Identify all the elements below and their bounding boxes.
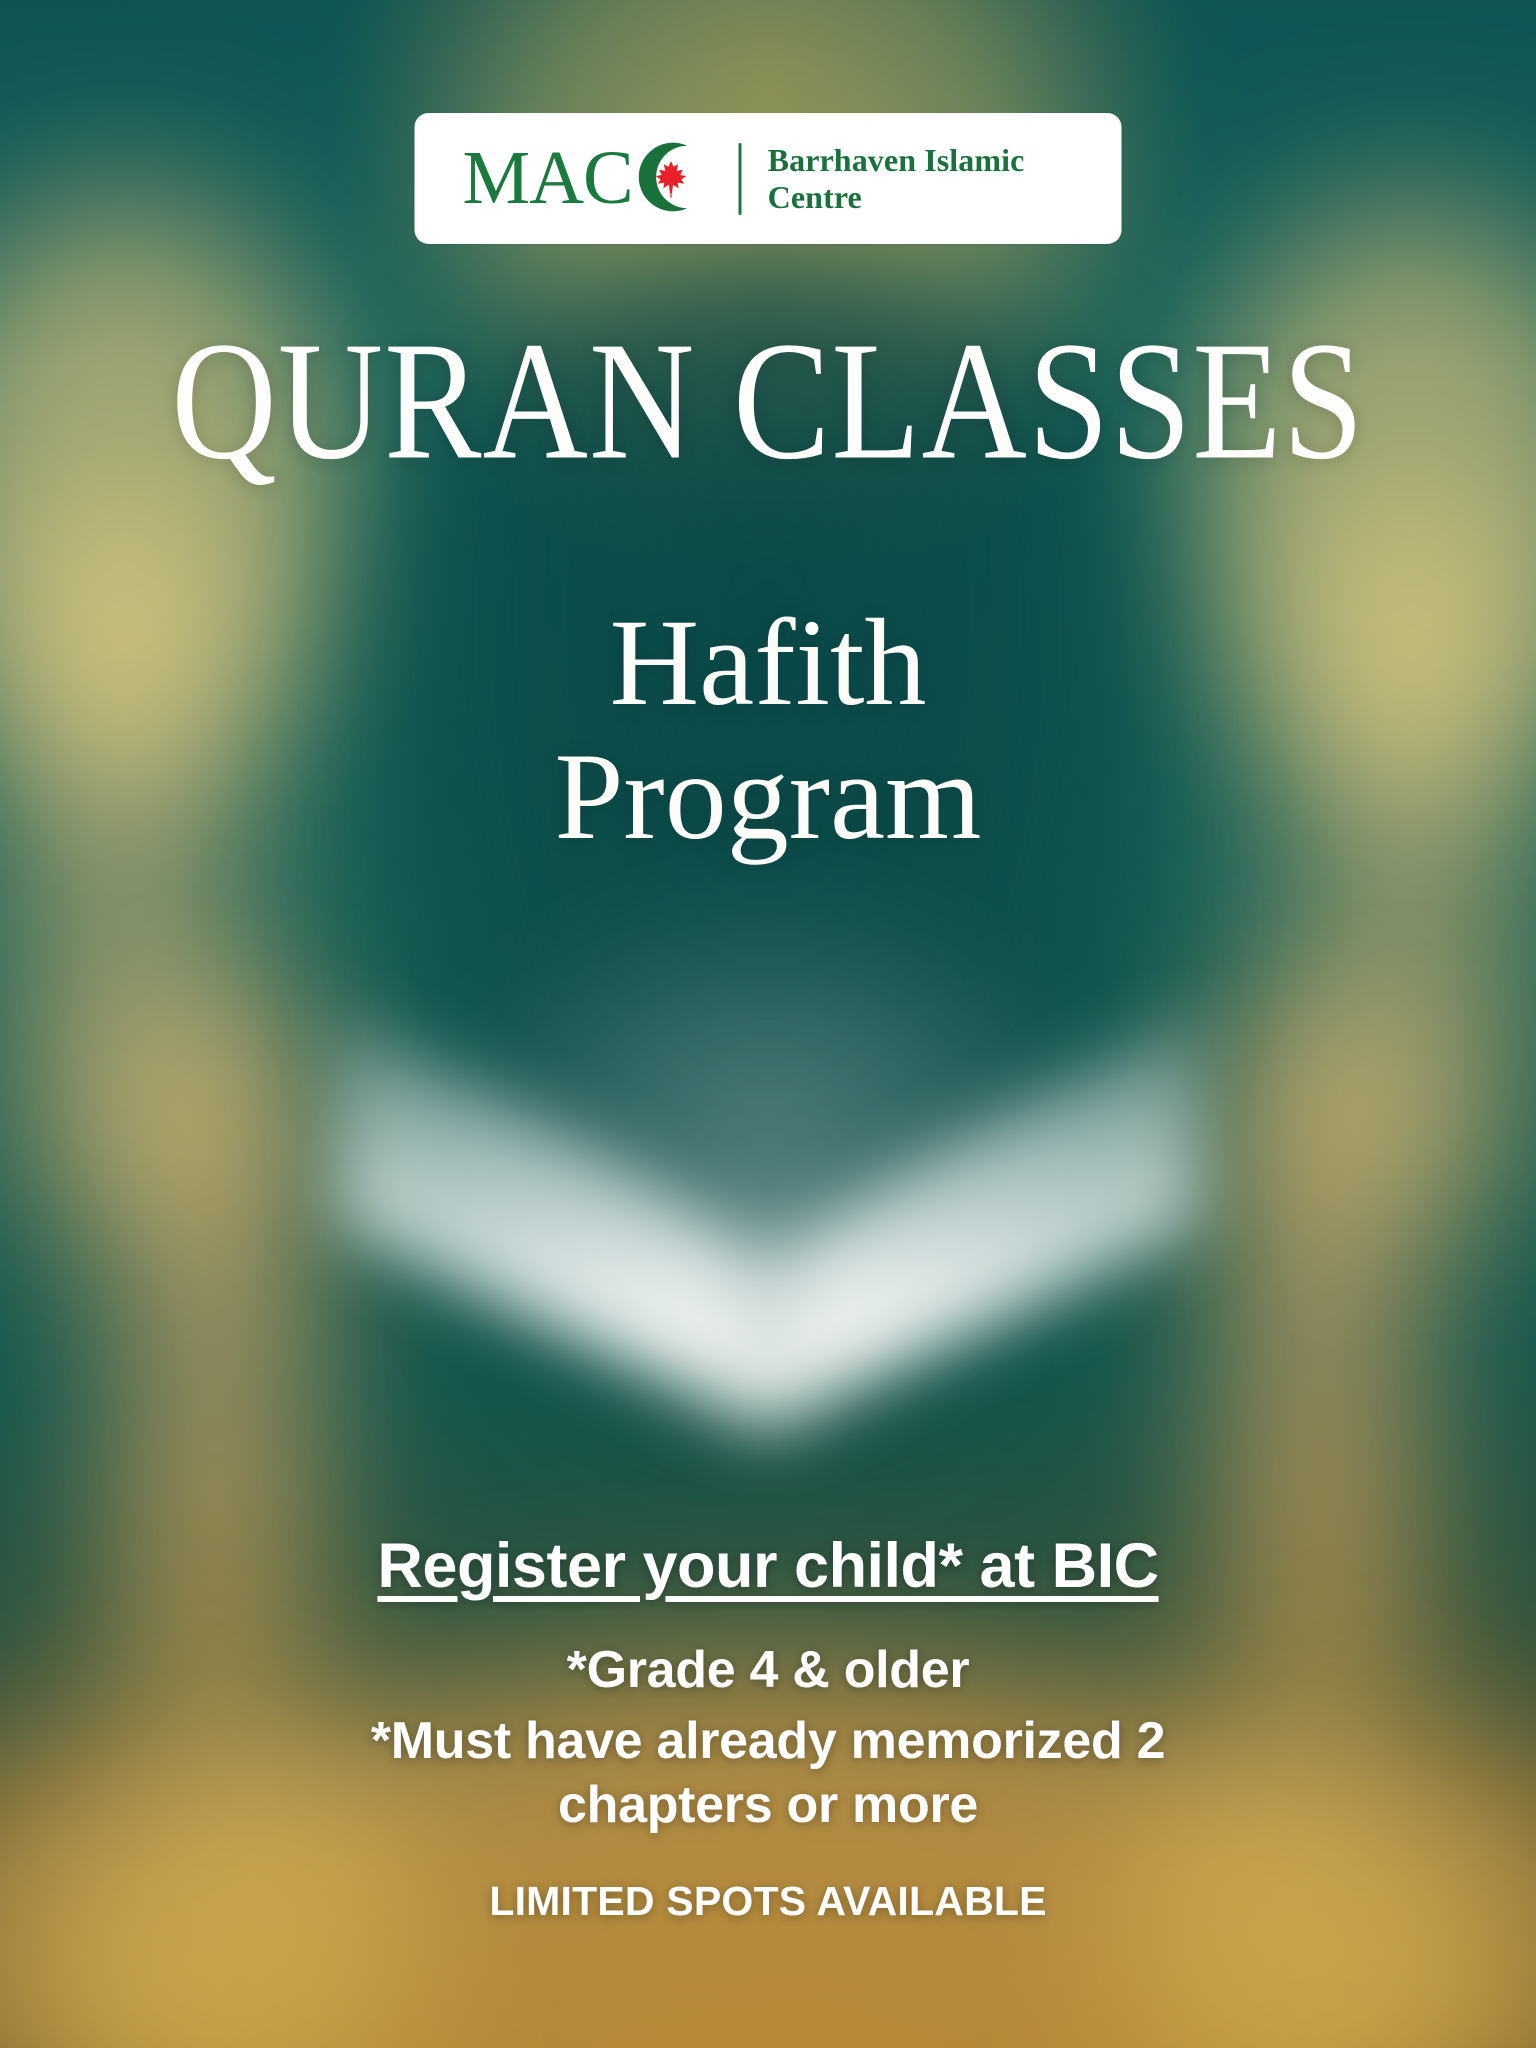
note-memorization-requirement: *Must have already memorized 2 chapters … — [0, 1709, 1536, 1838]
program-subtitle-line-2: Program — [0, 734, 1536, 860]
note-memorization-line-1: *Must have already memorized 2 — [0, 1709, 1536, 1773]
register-cta-text[interactable]: Register your child* at BIC — [0, 1531, 1536, 1602]
vertical-divider — [739, 143, 742, 215]
crescent-maple-leaf-icon — [627, 138, 705, 220]
note-grade-requirement: *Grade 4 & older — [0, 1640, 1536, 1701]
mac-lockup: MAC — [463, 138, 705, 220]
registration-info-block: Register your child* at BIC *Grade 4 & o… — [0, 1531, 1536, 1925]
note-memorization-line-2: chapters or more — [0, 1773, 1536, 1837]
program-subtitle: Hafith Program — [0, 600, 1536, 861]
program-subtitle-line-1: Hafith — [0, 600, 1536, 726]
mac-bic-logo-card: MAC Barrhaven Islamic Centre — [415, 113, 1122, 244]
poster-content: MAC Barrhaven Islamic Centre — [0, 0, 1536, 2048]
poster-root: MAC Barrhaven Islamic Centre — [0, 0, 1536, 2048]
page-title: QURAN CLASSES — [0, 316, 1536, 485]
organization-name: Barrhaven Islamic Centre — [768, 142, 1025, 215]
mac-wordmark: MAC — [463, 147, 633, 209]
limited-spots-badge: LIMITED SPOTS AVAILABLE — [0, 1878, 1536, 1925]
